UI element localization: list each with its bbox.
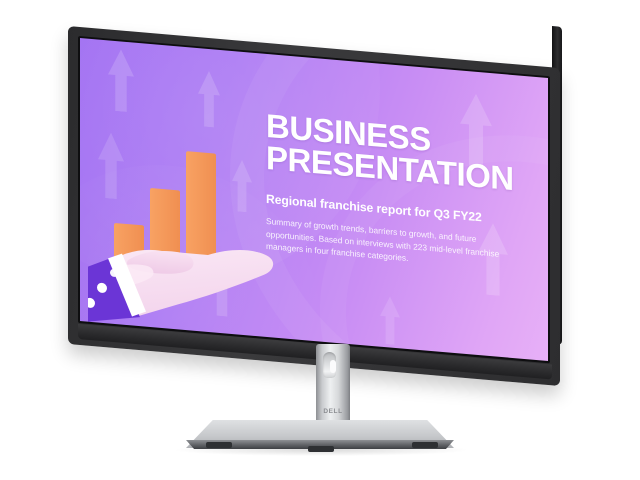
stand-foot-left (206, 442, 232, 448)
stand-slot-highlight (330, 360, 336, 373)
dell-monitor: BUSINESS PRESENTATION Regional franchise… (0, 0, 640, 480)
slide-text-block: BUSINESS PRESENTATION Regional franchise… (266, 110, 532, 276)
hand-holding-chart-illustration (88, 117, 278, 338)
arrow-1-icon (108, 48, 134, 112)
stand-foot-center (308, 446, 334, 452)
hand-chart-svg (88, 117, 278, 338)
presentation-slide: BUSINESS PRESENTATION Regional franchise… (80, 38, 548, 361)
background-arrow-layer (80, 38, 548, 78)
slide-title: BUSINESS PRESENTATION (266, 110, 532, 197)
product-photo-canvas: BUSINESS PRESENTATION Regional franchise… (0, 0, 640, 480)
arrow-8-icon (380, 296, 400, 346)
stand-foot-right (412, 442, 438, 448)
arrow-2-icon (198, 70, 220, 128)
dell-logo: DELL (316, 408, 350, 415)
monitor-screen[interactable]: BUSINESS PRESENTATION Regional franchise… (80, 38, 548, 361)
